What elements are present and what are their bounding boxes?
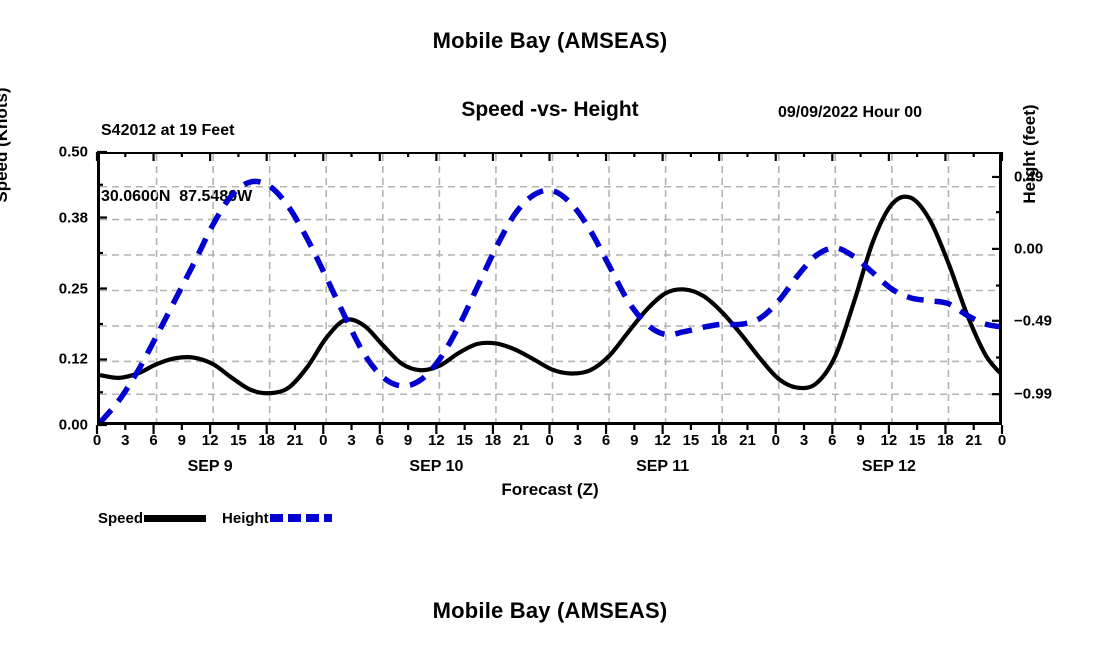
x-day-label-1: SEP 10 — [409, 458, 463, 476]
y-axis-right-title: Height (feet) — [1020, 4, 1040, 304]
y-tick-label-left-2: 0.25 — [59, 280, 88, 297]
x-tick-label-1: 3 — [121, 432, 129, 449]
y-tick-label-left-3: 0.38 — [59, 209, 88, 226]
x-axis-day-labels: SEP 9SEP 10SEP 11SEP 12 — [0, 458, 1100, 482]
chart-legend: Speed Height — [98, 508, 348, 528]
data-curves — [100, 154, 999, 422]
x-tick-label-28: 12 — [881, 432, 898, 449]
x-tick-label-7: 21 — [287, 432, 304, 449]
x-day-label-3: SEP 12 — [862, 458, 916, 476]
x-tick-label-17: 3 — [574, 432, 582, 449]
x-tick-label-0: 0 — [93, 432, 101, 449]
x-tick-label-16: 0 — [545, 432, 553, 449]
x-tick-label-20: 12 — [654, 432, 671, 449]
x-day-label-2: SEP 11 — [636, 458, 689, 476]
x-tick-label-23: 21 — [739, 432, 756, 449]
legend-item-height: Height — [222, 510, 332, 527]
x-tick-label-4: 12 — [202, 432, 219, 449]
x-tick-label-19: 9 — [630, 432, 638, 449]
x-tick-label-18: 6 — [602, 432, 610, 449]
x-tick-label-30: 18 — [937, 432, 954, 449]
x-tick-label-29: 15 — [909, 432, 926, 449]
y-tick-label-right-1: −0.49 — [1014, 312, 1052, 329]
x-tick-label-12: 12 — [428, 432, 445, 449]
x-tick-label-24: 0 — [772, 432, 780, 449]
x-tick-label-11: 9 — [404, 432, 412, 449]
y-axis-left-ticks: 0.000.120.250.380.50 — [20, 0, 88, 650]
x-tick-label-22: 18 — [711, 432, 728, 449]
legend-label-height: Height — [222, 510, 269, 527]
x-tick-label-13: 15 — [456, 432, 473, 449]
y-axis-left-title: Speed (Knots) — [0, 0, 12, 395]
x-tick-label-2: 6 — [149, 432, 157, 449]
y-tick-label-left-0: 0.00 — [59, 417, 88, 434]
model-run-time: 09/09/2022 Hour 00 — [700, 104, 1000, 122]
x-tick-label-26: 6 — [828, 432, 836, 449]
x-tick-label-32: 0 — [998, 432, 1006, 449]
plot-inner — [100, 154, 999, 422]
x-tick-label-25: 3 — [800, 432, 808, 449]
x-tick-label-15: 21 — [513, 432, 530, 449]
x-tick-label-14: 18 — [485, 432, 502, 449]
x-axis-title: Forecast (Z) — [0, 480, 1100, 500]
station-name-depth: S42012 at 19 Feet — [101, 120, 252, 142]
legend-swatch-height — [270, 514, 332, 522]
legend-label-speed: Speed — [98, 510, 143, 527]
legend-item-speed: Speed — [98, 510, 206, 527]
page-title-top: Mobile Bay (AMSEAS) — [0, 28, 1100, 54]
x-tick-label-6: 18 — [258, 432, 275, 449]
x-tick-label-31: 21 — [965, 432, 982, 449]
x-tick-label-9: 3 — [347, 432, 355, 449]
legend-swatch-speed — [144, 515, 206, 522]
chart-page: Mobile Bay (AMSEAS) S42012 at 19 Feet 30… — [0, 0, 1100, 650]
x-tick-label-8: 0 — [319, 432, 327, 449]
x-axis-tick-labels: 0369121518210369121518210369121518210369… — [0, 432, 1100, 456]
y-tick-label-left-4: 0.50 — [59, 144, 88, 161]
y-tick-label-right-0: −0.99 — [1014, 386, 1052, 403]
x-tick-label-27: 9 — [856, 432, 864, 449]
x-tick-label-5: 15 — [230, 432, 247, 449]
page-title-bottom: Mobile Bay (AMSEAS) — [0, 598, 1100, 624]
x-tick-label-3: 9 — [178, 432, 186, 449]
x-tick-label-10: 6 — [376, 432, 384, 449]
y-tick-label-left-1: 0.12 — [59, 351, 88, 368]
x-tick-label-21: 15 — [683, 432, 700, 449]
x-day-label-0: SEP 9 — [188, 458, 233, 476]
plot-area — [97, 152, 1002, 425]
